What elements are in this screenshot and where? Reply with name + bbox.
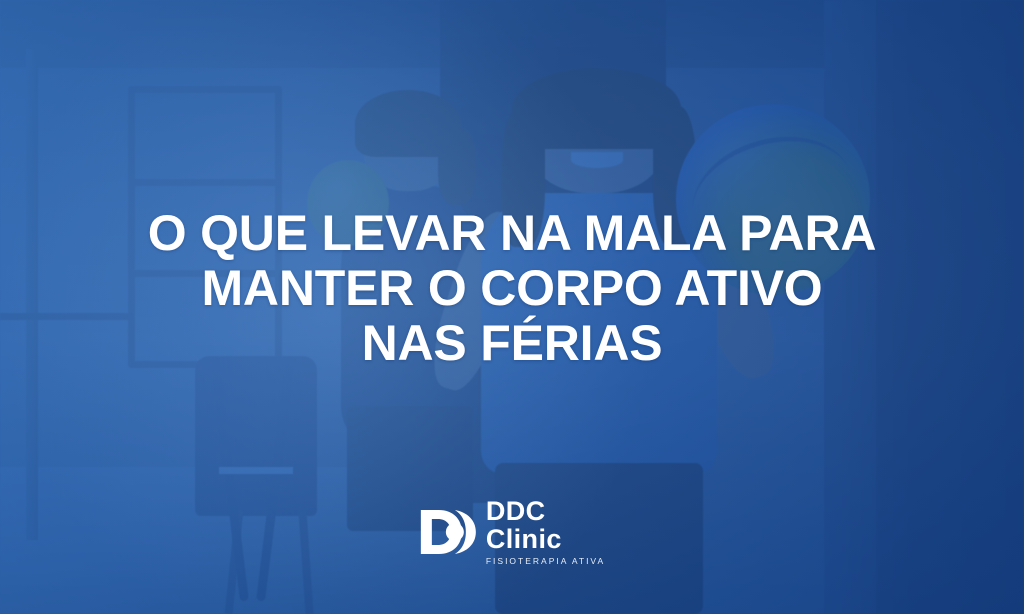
ddc-clinic-logo: DDC Clinic FISIOTERAPIA ATIVA xyxy=(419,498,605,566)
logo-name-line-2: Clinic xyxy=(486,526,605,553)
logo-tagline: FISIOTERAPIA ATIVA xyxy=(486,557,605,566)
logo-name-line-1: DDC xyxy=(486,498,605,525)
headline-line-2: MANTER O CORPO ATIVO xyxy=(0,261,1024,316)
banner-content: O QUE LEVAR NA MALA PARA MANTER O CORPO … xyxy=(0,0,1024,614)
headline-line-1: O QUE LEVAR NA MALA PARA xyxy=(0,206,1024,261)
headline-line-3: NAS FÉRIAS xyxy=(0,316,1024,371)
logo-wordmark: DDC Clinic FISIOTERAPIA ATIVA xyxy=(486,498,605,566)
ddc-monogram-icon xyxy=(419,504,477,560)
banner-headline: O QUE LEVAR NA MALA PARA MANTER O CORPO … xyxy=(0,206,1024,371)
promo-banner: O QUE LEVAR NA MALA PARA MANTER O CORPO … xyxy=(0,0,1024,614)
